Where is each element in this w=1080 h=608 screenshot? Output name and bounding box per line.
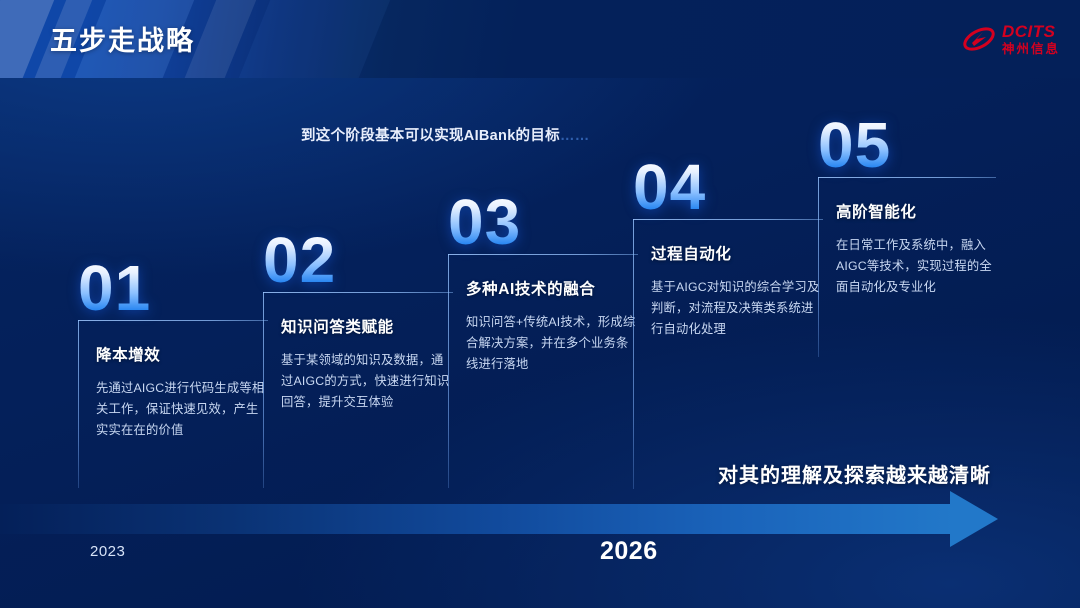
annotation-trail: …… bbox=[560, 128, 590, 144]
arrow-bar bbox=[0, 504, 955, 534]
logo-text: DCITS 神州信息 bbox=[1002, 23, 1060, 56]
step-number: 03 bbox=[448, 190, 638, 254]
page-title: 五步走战略 bbox=[50, 19, 195, 58]
step-title: 降本增效 bbox=[96, 343, 268, 365]
annotation-note: 到这个阶段基本可以实现AIBank的目标…… bbox=[301, 124, 590, 145]
step-card: 过程自动化 基于AIGC对知识的综合学习及判断，对流程及决策类系统进行自动化处理 bbox=[633, 219, 823, 340]
step-number: 02 bbox=[263, 228, 453, 292]
step-01[interactable]: 01 降本增效 先通过AIGC进行代码生成等相关工作，保证快速见效，产生实实在在… bbox=[78, 256, 268, 441]
card-body: 过程自动化 基于AIGC对知识的综合学习及判断，对流程及决策类系统进行自动化处理 bbox=[633, 220, 823, 340]
year-end-label: 2026 bbox=[600, 537, 658, 566]
card-left-rule bbox=[818, 177, 819, 357]
step-card: 降本增效 先通过AIGC进行代码生成等相关工作，保证快速见效，产生实实在在的价值 bbox=[78, 320, 268, 441]
step-desc: 基于AIGC对知识的综合学习及判断，对流程及决策类系统进行自动化处理 bbox=[651, 277, 823, 340]
card-left-rule bbox=[78, 320, 79, 488]
card-left-rule bbox=[263, 292, 264, 488]
step-desc: 知识问答+传统AI技术，形成综合解决方案，并在多个业务条线进行落地 bbox=[466, 312, 638, 375]
step-number: 05 bbox=[818, 113, 996, 177]
step-number: 04 bbox=[633, 155, 823, 219]
step-title: 过程自动化 bbox=[651, 242, 823, 264]
step-03[interactable]: 03 多种AI技术的融合 知识问答+传统AI技术，形成综合解决方案，并在多个业务… bbox=[448, 190, 638, 375]
card-left-rule bbox=[448, 254, 449, 488]
slide-root: 五步走战略 DCITS 神州信息 到这个阶段基本可以实现AIBank的目标…… … bbox=[0, 0, 1080, 608]
step-02[interactable]: 02 知识问答类赋能 基于某领域的知识及数据，通过AIGC的方式，快速进行知识回… bbox=[263, 228, 453, 413]
slide-header: 五步走战略 DCITS 神州信息 bbox=[0, 0, 1080, 78]
logo-cn-text: 神州信息 bbox=[1002, 43, 1060, 56]
step-number: 01 bbox=[78, 256, 268, 320]
step-title: 知识问答类赋能 bbox=[281, 315, 453, 337]
year-start-label: 2023 bbox=[90, 543, 125, 560]
logo-en-text: DCITS bbox=[1002, 23, 1060, 40]
step-desc: 先通过AIGC进行代码生成等相关工作，保证快速见效，产生实实在在的价值 bbox=[96, 378, 268, 441]
company-logo: DCITS 神州信息 bbox=[962, 16, 1060, 62]
card-body: 知识问答类赋能 基于某领域的知识及数据，通过AIGC的方式，快速进行知识回答，提… bbox=[263, 293, 453, 413]
card-body: 降本增效 先通过AIGC进行代码生成等相关工作，保证快速见效，产生实实在在的价值 bbox=[78, 321, 268, 441]
arrow-head-icon bbox=[950, 491, 998, 547]
swirl-logo-icon bbox=[962, 22, 996, 56]
step-05[interactable]: 05 高阶智能化 在日常工作及系统中，融入AIGC等技术，实现过程的全面自动化及… bbox=[818, 113, 996, 298]
timeline-arrow bbox=[0, 496, 1080, 542]
step-title: 高阶智能化 bbox=[836, 200, 996, 222]
step-desc: 基于某领域的知识及数据，通过AIGC的方式，快速进行知识回答，提升交互体验 bbox=[281, 350, 453, 413]
card-body: 多种AI技术的融合 知识问答+传统AI技术，形成综合解决方案，并在多个业务条线进… bbox=[448, 255, 638, 375]
step-04[interactable]: 04 过程自动化 基于AIGC对知识的综合学习及判断，对流程及决策类系统进行自动… bbox=[633, 155, 823, 340]
card-body: 高阶智能化 在日常工作及系统中，融入AIGC等技术，实现过程的全面自动化及专业化 bbox=[818, 178, 996, 298]
step-card: 高阶智能化 在日常工作及系统中，融入AIGC等技术，实现过程的全面自动化及专业化 bbox=[818, 177, 996, 298]
step-card: 知识问答类赋能 基于某领域的知识及数据，通过AIGC的方式，快速进行知识回答，提… bbox=[263, 292, 453, 413]
step-title: 多种AI技术的融合 bbox=[466, 277, 638, 299]
step-desc: 在日常工作及系统中，融入AIGC等技术，实现过程的全面自动化及专业化 bbox=[836, 235, 996, 298]
card-left-rule bbox=[633, 219, 634, 489]
arrow-label: 对其的理解及探索越来越清晰 bbox=[718, 459, 991, 488]
annotation-text: 到这个阶段基本可以实现AIBank的目标 bbox=[301, 128, 560, 144]
step-card: 多种AI技术的融合 知识问答+传统AI技术，形成综合解决方案，并在多个业务条线进… bbox=[448, 254, 638, 375]
